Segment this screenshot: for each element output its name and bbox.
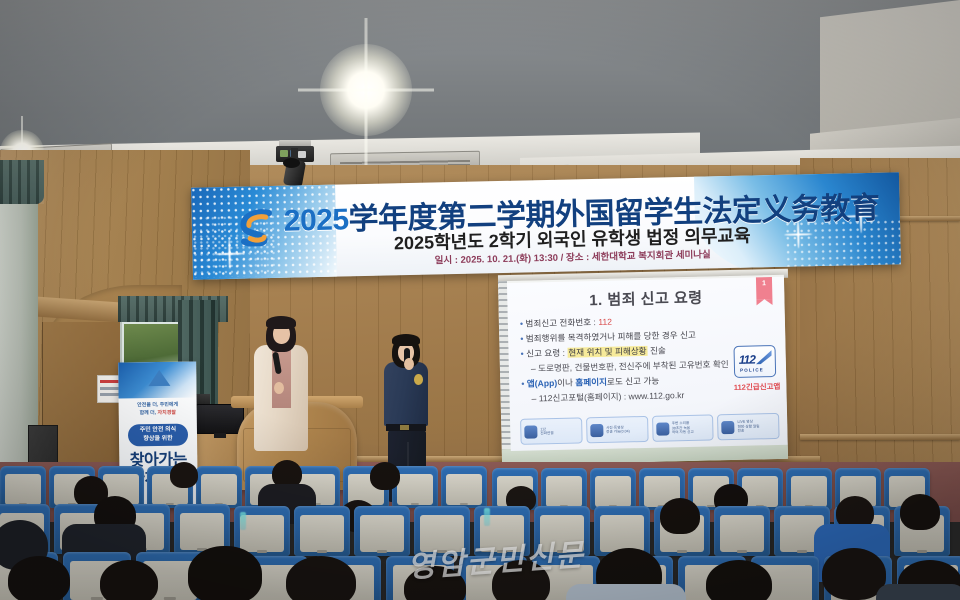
slide-bullet-3-pre: 신고 요령 :: [526, 347, 567, 358]
seat[interactable]: [541, 468, 587, 510]
seat[interactable]: [196, 466, 242, 508]
phone-call-icon: [524, 425, 537, 438]
event-banner: 2025学年度第二学期外国留学生法定义务教育 2025학년도 2학기 외국인 유…: [191, 172, 901, 279]
audience-head: [286, 556, 356, 600]
audience-body: [566, 584, 686, 600]
camera-upload-icon: [590, 423, 603, 436]
police-app-caption: 112긴급신고앱: [734, 381, 781, 393]
aisle-marker-light: [484, 508, 490, 526]
rollup-tagline-1: 안전을 더, 주민에게: [137, 402, 178, 409]
audience-head: [706, 560, 772, 600]
rollup-triangle-icon: [148, 370, 170, 386]
slide-bullet-1-number: 112: [598, 316, 612, 326]
app-card-2: 사진·동영상전송 가능(0.04): [586, 416, 648, 443]
officer-uniform-shirt: [384, 362, 428, 426]
audience-head: [100, 560, 158, 600]
police-logo-swoosh-icon: [756, 350, 772, 364]
university-logo-icon: [236, 208, 277, 247]
audience-head: [170, 462, 198, 488]
bullet-dot-icon: •: [520, 318, 523, 328]
officer-belt: [386, 424, 426, 431]
seat[interactable]: [0, 466, 46, 508]
bullet-dot-icon: •: [520, 333, 523, 343]
live-video-icon: [721, 420, 734, 433]
slide-bullet-4-app: 앱(App): [527, 377, 558, 388]
slide-title: 1. 범죄 신고 요령: [507, 285, 784, 312]
audience-head: [8, 556, 70, 600]
projection-screen: 1 1. 범죄 신고 요령 • 범죄신고 전화번호 : 112 • 범죄행위를 …: [498, 275, 788, 465]
audience-head: [660, 498, 700, 534]
moderator-fringe: [266, 316, 296, 329]
officer-hand: [404, 358, 414, 370]
bullet-dot-icon: •: [521, 378, 524, 388]
app-card-4: LIVE 영상현장·상황 알림전송: [717, 413, 779, 440]
seat[interactable]: [786, 468, 832, 510]
slide-ribbon-number: 1: [756, 280, 772, 287]
right-wall-rail-lower: [800, 434, 960, 440]
audience-head: [370, 462, 400, 490]
dash-icon: –: [531, 363, 536, 373]
audience-head: [188, 546, 262, 600]
moderator-hand: [274, 382, 284, 394]
slide-bullet-4-homepage: 홈페이지: [575, 376, 607, 387]
rollup-tagline-2-em: 자치경찰: [157, 409, 175, 415]
seat[interactable]: [714, 506, 770, 556]
slide-bullet-3-post: 진술: [648, 345, 666, 355]
slide-page-ribbon: 1: [756, 277, 772, 299]
slide-subbullet-2-text: 112신고포털(홈페이지) : www.112.go.kr: [539, 390, 685, 403]
audience-body: [876, 584, 960, 600]
officer-fringe: [392, 334, 420, 346]
app-card-1: 112전화연결: [520, 417, 582, 444]
desk-monitor: [196, 404, 244, 434]
seat[interactable]: [590, 468, 636, 510]
slide-bullet-1-text: 범죄신고 전화번호 :: [525, 317, 598, 329]
rollup-pill-line2: 향상을 위한: [143, 435, 172, 444]
slide-bullet-2-text: 범죄행위를 목격하였거나 피해를 당한 경우 신고: [526, 329, 696, 343]
slide-app-feature-cards: 112전화연결 사진·동영상전송 가능(0.04) 주변 소리를30초간 녹음하…: [520, 413, 780, 445]
audience-head: [900, 494, 940, 530]
auditorium-photo: 2025学年度第二学期外国留学生法定义务教育 2025학년도 2학기 외국인 유…: [0, 0, 960, 600]
slide-bullet-4-mid: 이나: [557, 377, 575, 387]
projector-lens-icon: [283, 158, 300, 168]
app-card-1-text: 112전화연결: [540, 427, 553, 436]
police-logo-word: POLICE: [740, 367, 764, 373]
ceiling-downlight-main: [320, 44, 412, 136]
dash-icon: –: [531, 393, 536, 403]
rollup-pill-label: 주민 안전 의식 향상을 위한: [128, 424, 188, 447]
app-card-2-text: 사진·동영상전송 가능(0.04): [606, 425, 630, 435]
rollup-tagline: 안전을 더, 주민에게 함께 더, 자치경찰: [119, 402, 197, 418]
app-card-4-text: LIVE 영상현장·상황 알림전송: [737, 420, 759, 434]
left-curtain-valance: [0, 160, 44, 204]
police-logo-number: 112: [739, 352, 755, 366]
rollup-tagline-2-pre: 함께 더,: [140, 410, 158, 416]
officer-badge-icon: [414, 374, 423, 385]
slide-bullet-4-post: 로도 신고 가능: [607, 375, 659, 386]
seat[interactable]: [294, 506, 350, 556]
aisle-marker-light: [240, 512, 246, 530]
police-112-logo-icon: 112 POLICE: [733, 345, 776, 378]
seat-row-far-center: [196, 466, 487, 508]
presentation-slide: 1 1. 범죄 신고 요령 • 범죄신고 전화번호 : 112 • 범죄행위를 …: [507, 277, 788, 451]
bullet-dot-icon: •: [520, 348, 523, 358]
slide-bullet-3-highlight: 현재 위치 및 피해상황: [567, 345, 648, 357]
microphone-record-icon: [656, 422, 669, 435]
app-card-3-text: 주변 소리를30초간 녹음하여 자동 신고: [672, 421, 694, 435]
app-card-3: 주변 소리를30초간 녹음하여 자동 신고: [652, 414, 714, 441]
seat[interactable]: [441, 466, 487, 508]
